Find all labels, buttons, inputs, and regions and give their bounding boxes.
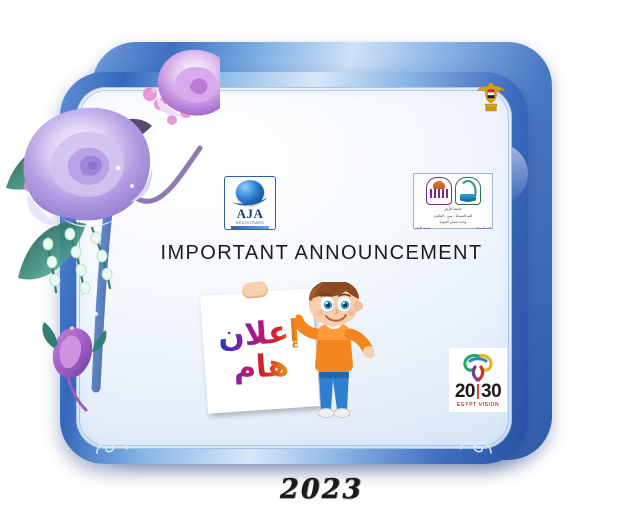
emblem-arabic-line-1: جامعة الأزهر (417, 207, 489, 212)
egypt-vision-2030-logo: 2030 EGYPT VISION (449, 348, 507, 412)
floral-decoration (0, 28, 220, 428)
aja-logo-subtitle: REGISTRARS (236, 221, 264, 225)
pharmacy-bowl-of-hygieia-icon (455, 177, 481, 205)
university-pharmacy-emblem: جامعة الأزهر كلية الصيدلة - بنين - القاه… (413, 173, 493, 229)
vision-subtitle: EGYPT VISION (457, 402, 500, 408)
emblem-footer: جامعة الأزهر كلية الصيدلة (415, 226, 491, 230)
vision-swirl-icon (458, 352, 498, 382)
emblem-shields (426, 177, 481, 205)
globe-icon (236, 180, 264, 205)
emblem-footer-right: كلية الصيدلة (476, 226, 491, 230)
emblem-arabic-line-2: كلية الصيدلة - بنين - القاهرة (417, 214, 489, 219)
emblem-arabic-line-3: وحدة ضمان الجودة (417, 220, 489, 225)
aja-registrars-logo: AJA REGISTRARS (224, 176, 276, 230)
year-label: 2023 (0, 474, 643, 505)
aja-logo-name: AJA (237, 207, 264, 220)
cartoon-boy-illustration (296, 282, 374, 422)
boy-with-announcement-sign: إعلان هام (198, 280, 380, 422)
emblem-footer-left: جامعة الأزهر (415, 226, 431, 230)
announcement-card-image: AJA REGISTRARS جامعة الأزهر كلية الصيدلة… (0, 0, 643, 529)
university-shield-icon (426, 177, 452, 205)
vision-number: 2030 (455, 382, 501, 401)
vision-number-left: 20 (455, 382, 475, 401)
sign-arabic-line-1: إعلان (217, 316, 301, 353)
vision-number-right: 30 (481, 382, 501, 401)
aja-logo-bar (231, 226, 269, 230)
sign-arabic-line-2: هام (232, 350, 290, 385)
vision-divider (477, 384, 479, 399)
eagle-of-saladin-icon (476, 80, 506, 114)
